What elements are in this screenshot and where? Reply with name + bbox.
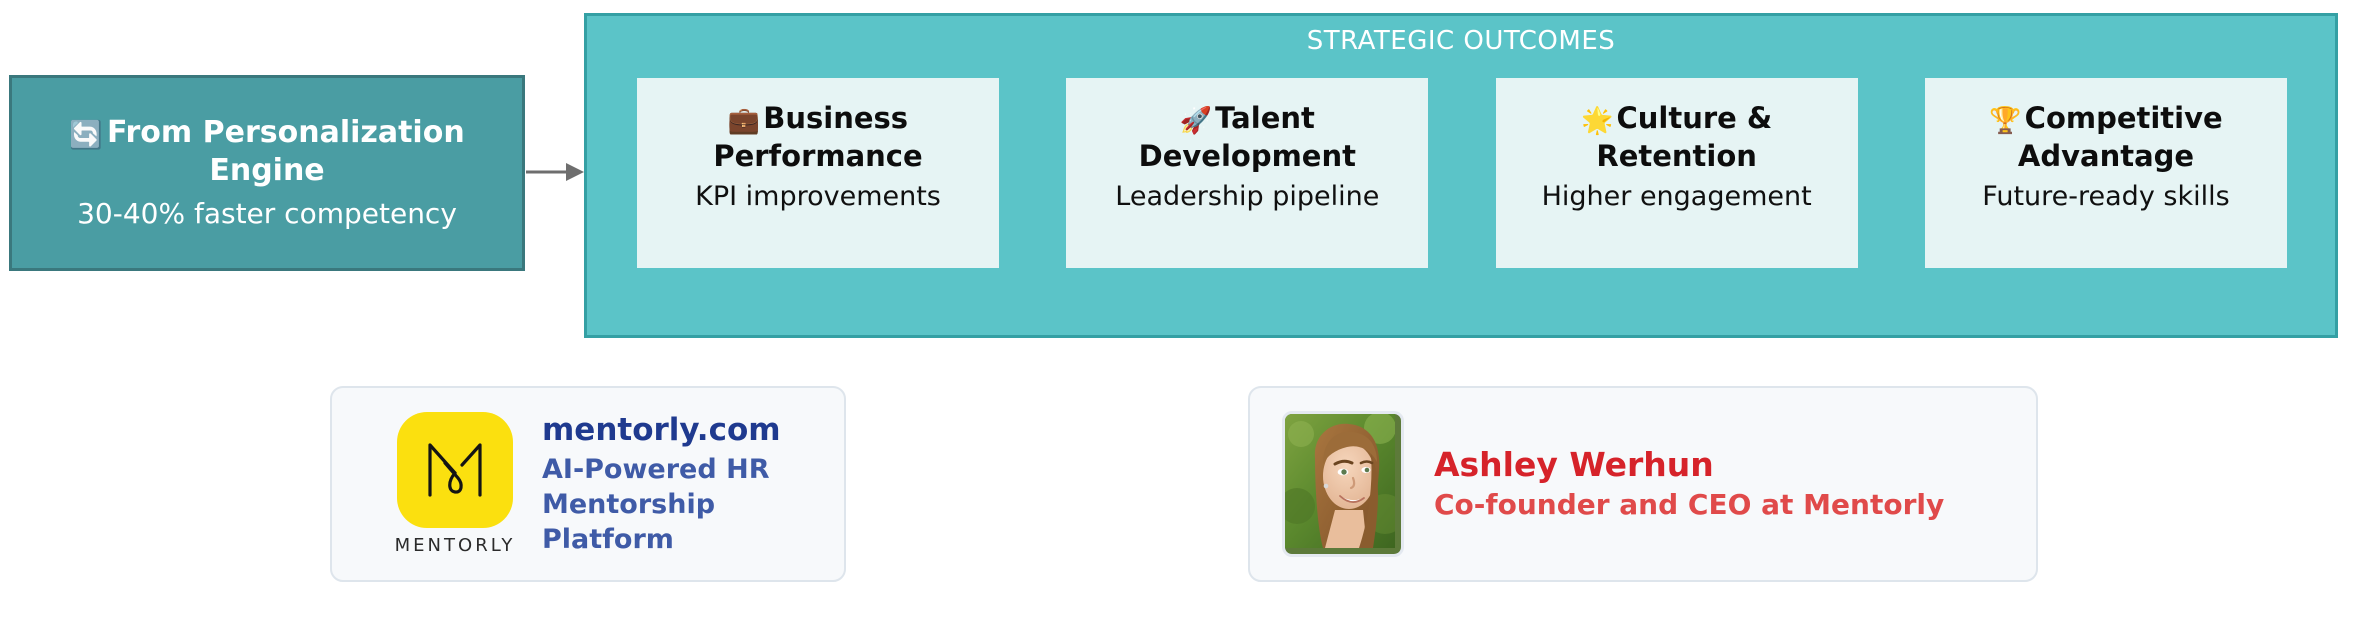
mentorly-logo: MENTORLY <box>394 412 516 556</box>
glowing-star-icon: 🌟 <box>1581 106 1613 136</box>
outcome-card-title-text: Competitive Advantage <box>2018 101 2223 173</box>
outcome-card-talent-development: 🚀Talent Development Leadership pipeline <box>1066 78 1428 268</box>
outcome-cards-row: 💼Business Performance KPI improvements 🚀… <box>637 78 2287 268</box>
refresh-arrows-icon: 🔄 <box>69 120 103 151</box>
portrait-photo <box>1285 414 1395 548</box>
strategic-outcomes-title: STRATEGIC OUTCOMES <box>587 26 2335 56</box>
avatar <box>1282 411 1404 557</box>
outcome-card-competitive-advantage: 🏆Competitive Advantage Future-ready skil… <box>1925 78 2287 268</box>
mentorly-logo-tile <box>397 412 513 528</box>
outcome-card-culture-retention: 🌟Culture & Retention Higher engagement <box>1496 78 1858 268</box>
outcome-card-title: 💼Business Performance <box>668 100 968 175</box>
person-name: Ashley Werhun <box>1434 444 1944 485</box>
person-role: Co-founder and CEO at Mentorly <box>1434 487 1944 523</box>
strategic-outcomes-panel: STRATEGIC OUTCOMES 💼Business Performance… <box>584 13 2338 338</box>
briefcase-icon: 💼 <box>728 106 760 136</box>
site-name[interactable]: mentorly.com <box>542 411 844 451</box>
outcome-card-title: 🌟Culture & Retention <box>1527 100 1827 175</box>
rocket-icon: 🚀 <box>1180 106 1212 136</box>
site-card-text: mentorly.com AI-Powered HR Mentorship Pl… <box>542 411 844 558</box>
person-card-text: Ashley Werhun Co-founder and CEO at Ment… <box>1434 444 1944 524</box>
arrow-right-connector <box>526 158 586 186</box>
outcome-card-business-performance: 💼Business Performance KPI improvements <box>637 78 999 268</box>
source-box: 🔄From Personalization Engine 30-40% fast… <box>9 75 525 271</box>
person-info-card[interactable]: Ashley Werhun Co-founder and CEO at Ment… <box>1248 386 2038 582</box>
source-box-title-text: From Personalization Engine <box>107 115 465 189</box>
site-info-card[interactable]: MENTORLY mentorly.com AI-Powered HR Ment… <box>330 386 846 582</box>
source-box-title: 🔄From Personalization Engine <box>67 114 467 190</box>
outcome-card-title: 🏆Competitive Advantage <box>1956 100 2256 175</box>
outcome-card-subtitle: Leadership pipeline <box>1115 179 1379 214</box>
site-tagline: AI-Powered HR Mentorship Platform <box>542 452 844 557</box>
outcome-card-title-text: Culture & Retention <box>1596 101 1772 173</box>
outcome-card-title: 🚀Talent Development <box>1097 100 1397 175</box>
outcome-card-subtitle: KPI improvements <box>695 179 941 214</box>
mentorly-wordmark: MENTORLY <box>395 535 516 556</box>
outcome-card-subtitle: Higher engagement <box>1542 179 1812 214</box>
outcome-card-subtitle: Future-ready skills <box>1982 179 2229 214</box>
source-box-subtitle: 30-40% faster competency <box>77 196 457 232</box>
outcome-card-title-text: Talent Development <box>1139 101 1356 173</box>
mentorly-monogram-icon <box>412 427 498 513</box>
trophy-icon: 🏆 <box>1989 106 2021 136</box>
